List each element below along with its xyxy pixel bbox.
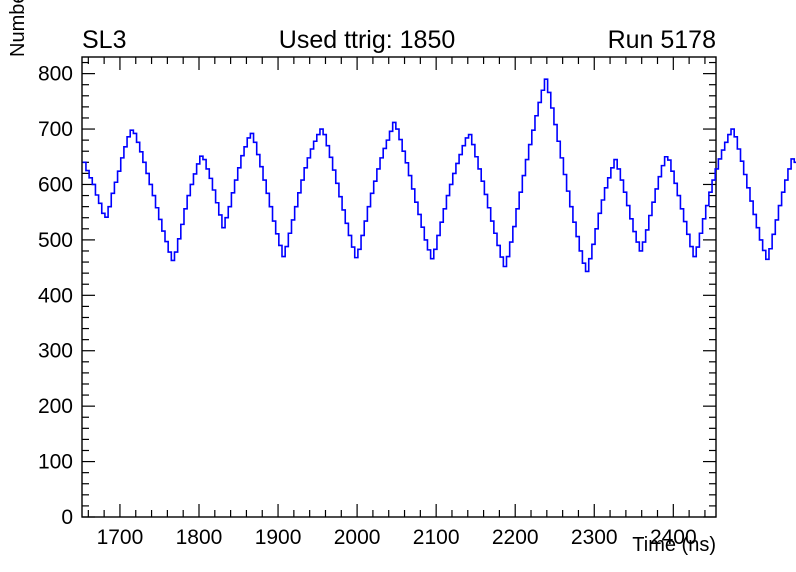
plot-frame [82,57,716,517]
x-tick-label: 2300 [571,526,618,549]
x-tick-label: 2100 [413,526,460,549]
x-tick-label: 1800 [176,526,223,549]
plot-canvas: 17001800190020002100220023002400 0100200… [0,0,796,572]
x-tick-label: 1900 [255,526,302,549]
y-tick-label: 400 [38,284,73,307]
y-tick-label: 100 [38,451,73,474]
y-tick-label: 300 [38,340,73,363]
root-canvas: SL3 Used ttrig: 1850 Run 5178 1700180019… [0,0,796,572]
y-tick-label: 0 [61,506,73,529]
y-axis-title: Number of digis [7,0,29,57]
y-tick-label: 800 [38,63,73,86]
y-axis-tick-labels: 0100200300400500600700800 [38,63,73,529]
y-tick-label: 700 [38,118,73,141]
y-tick-label: 200 [38,395,73,418]
x-tick-label: 1700 [97,526,144,549]
x-axis-title: Time (ns) [632,534,716,556]
data-series-digis [83,79,796,517]
y-tick-label: 500 [38,229,73,252]
x-tick-label: 2000 [334,526,381,549]
histogram-polyline [83,79,796,517]
x-tick-label: 2200 [492,526,539,549]
y-tick-label: 600 [38,173,73,196]
x-axis-tick-labels: 17001800190020002100220023002400 [97,526,697,549]
